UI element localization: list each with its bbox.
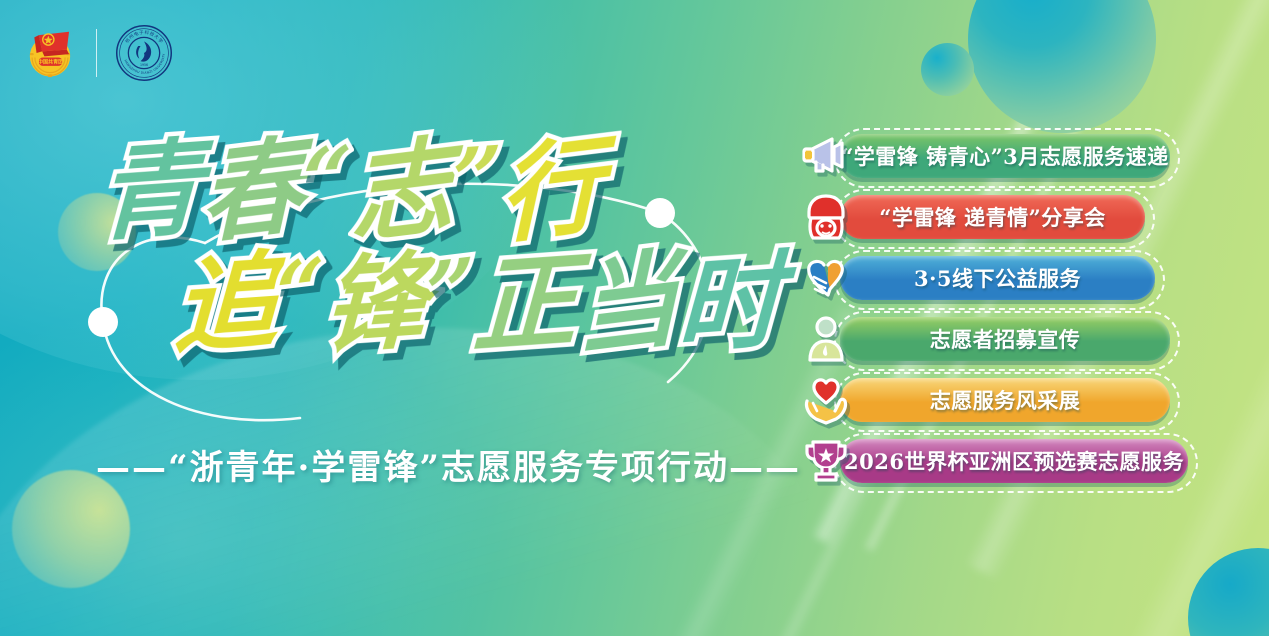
program-pill-label: “学雷锋 递青情”分享会 <box>879 202 1105 232</box>
program-pill-wrapper[interactable]: 志愿服务风采展 <box>840 378 1170 422</box>
title-char: “ <box>276 241 323 346</box>
program-list-item[interactable]: “学雷锋 铸青心”3月志愿服务速递 <box>798 134 1198 178</box>
header-logo-bar: 中国共青团 杭州电子科技大学 HANGZHOU DIANZI UNIVERSIT… <box>22 24 173 82</box>
logo-divider <box>96 29 97 77</box>
program-pill[interactable]: 志愿者招募宣传 <box>840 317 1170 361</box>
program-pill-wrapper[interactable]: 志愿者招募宣传 <box>840 317 1170 361</box>
program-pill-wrapper[interactable]: “学雷锋 铸青心”3月志愿服务速递 <box>840 134 1170 178</box>
volunteer-person-icon <box>798 312 854 366</box>
program-list-item[interactable]: “学雷锋 递青情”分享会 <box>798 195 1198 239</box>
program-pill-wrapper[interactable]: 3·5线下公益服务 <box>840 256 1155 300</box>
sphere-top-right-large <box>968 0 1156 133</box>
title-line-2: 追“锋”正当时 <box>174 241 776 368</box>
program-pill-label: “学雷锋 铸青心”3月志愿服务速递 <box>841 141 1169 171</box>
program-list-item[interactable]: 2026世界杯亚洲区预选赛志愿服务 <box>798 439 1198 483</box>
svg-text:1956: 1956 <box>140 63 148 67</box>
title-char: 正 <box>473 241 575 368</box>
poster-canvas: 中国共青团 杭州电子科技大学 HANGZHOU DIANZI UNIVERSIT… <box>0 0 1269 636</box>
title-char: “ <box>302 128 349 233</box>
program-pill-label: 志愿者招募宣传 <box>930 324 1081 354</box>
program-list-item[interactable]: 志愿服务风采展 <box>798 378 1198 422</box>
sphere-bottom-right <box>1188 548 1269 636</box>
main-title: 青春“志”行 追“锋”正当时 <box>86 128 776 368</box>
title-char: 青 <box>98 128 200 255</box>
program-pill-label: 2026世界杯亚洲区预选赛志愿服务 <box>844 446 1184 476</box>
program-pill[interactable]: 3·5线下公益服务 <box>840 256 1155 300</box>
hangzhou-dianzi-university-seal: 杭州电子科技大学 HANGZHOU DIANZI UNIVERSITY 1956 <box>115 24 173 82</box>
program-list-item[interactable]: 志愿者招募宣传 <box>798 317 1198 361</box>
subtitle: ——“浙青年·学雷锋”志愿服务专项行动—— <box>96 440 801 489</box>
title-char: 志 <box>350 128 452 255</box>
title-char: 锋 <box>323 241 425 368</box>
heart-hand-icon <box>798 251 854 305</box>
communist-youth-league-emblem: 中国共青团 <box>22 25 78 81</box>
program-pill-wrapper[interactable]: “学雷锋 递青情”分享会 <box>840 195 1145 239</box>
program-pill[interactable]: “学雷锋 铸青心”3月志愿服务速递 <box>840 134 1170 178</box>
program-pill[interactable]: “学雷锋 递青情”分享会 <box>840 195 1145 239</box>
program-pill-wrapper[interactable]: 2026世界杯亚洲区预选赛志愿服务 <box>840 439 1188 483</box>
lei-feng-portrait-icon <box>798 190 854 244</box>
title-char: 当 <box>575 241 677 368</box>
program-pill[interactable]: 志愿服务风采展 <box>840 378 1170 422</box>
program-pill-label: 3·5线下公益服务 <box>914 263 1081 293</box>
program-pill[interactable]: 2026世界杯亚洲区预选赛志愿服务 <box>840 439 1188 483</box>
program-list: “学雷锋 铸青心”3月志愿服务速递 “学雷锋 递青情”分享会 3·5线下公益服务… <box>798 134 1198 500</box>
title-char: 时 <box>677 241 779 368</box>
title-char: 追 <box>174 241 276 368</box>
trophy-icon <box>798 434 854 488</box>
program-list-item[interactable]: 3·5线下公益服务 <box>798 256 1198 300</box>
title-char: ” <box>426 241 473 346</box>
title-char: 行 <box>499 128 601 255</box>
megaphone-icon <box>798 129 854 183</box>
title-char: 春 <box>200 128 302 255</box>
sphere-top-right-small <box>921 43 974 96</box>
program-pill-label: 志愿服务风采展 <box>930 385 1081 415</box>
hands-holding-heart-icon <box>798 373 854 427</box>
title-char: ” <box>452 128 499 233</box>
svg-text:中国共青团: 中国共青团 <box>38 59 63 66</box>
